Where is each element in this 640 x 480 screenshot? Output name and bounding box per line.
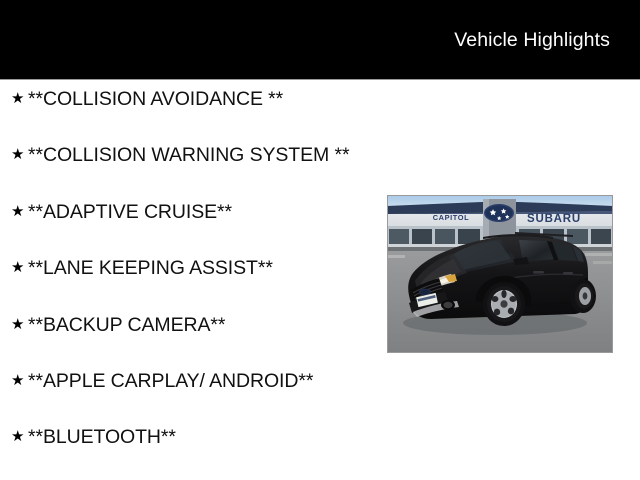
list-item-label: **COLLISION AVOIDANCE ** bbox=[28, 85, 283, 113]
vehicle-photo-image: CAPITOL SUBARU bbox=[387, 195, 613, 353]
list-item-label: **LANE KEEPING ASSIST** bbox=[28, 254, 273, 282]
star-bullet-icon: ★ bbox=[11, 367, 28, 395]
list-item-label: **ADAPTIVE CRUISE** bbox=[28, 198, 232, 226]
list-item-label: **APPLE CARPLAY/ ANDROID** bbox=[28, 367, 313, 395]
vehicle-photo: CAPITOL SUBARU bbox=[387, 195, 613, 353]
page-header: Vehicle Highlights bbox=[0, 0, 640, 79]
list-item: ★ **LANE KEEPING ASSIST** bbox=[0, 254, 380, 310]
parking-stripe bbox=[585, 253, 613, 256]
list-item: ★ **COLLISION AVOIDANCE ** bbox=[0, 85, 380, 141]
list-item: ★ **ADAPTIVE CRUISE** bbox=[0, 198, 380, 254]
list-item: ★ **BACKUP CAMERA** bbox=[0, 311, 380, 367]
header-divider bbox=[0, 79, 640, 80]
vehicle-highlights-list: ★ **COLLISION AVOIDANCE ** ★ **COLLISION… bbox=[0, 85, 380, 480]
dealership-name-left: CAPITOL bbox=[433, 213, 470, 222]
star-bullet-icon: ★ bbox=[11, 141, 28, 169]
vehicle-front-wheel bbox=[483, 282, 525, 326]
parking-stripe bbox=[387, 255, 405, 258]
list-item: ★ **APPLE CARPLAY/ ANDROID** bbox=[0, 367, 380, 423]
list-item-label: **BLUETOOTH** bbox=[28, 423, 176, 451]
list-item-label: **COLLISION WARNING SYSTEM ** bbox=[28, 141, 349, 169]
subaru-star-logo bbox=[484, 204, 514, 222]
star-bullet-icon: ★ bbox=[11, 311, 28, 339]
page-title: Vehicle Highlights bbox=[454, 29, 610, 51]
list-item: ★ **BLUETOOTH** bbox=[0, 423, 380, 479]
vehicle-rear-wheel bbox=[570, 279, 596, 313]
list-item-label: **BACKUP CAMERA** bbox=[28, 311, 225, 339]
star-bullet-icon: ★ bbox=[11, 85, 28, 113]
list-item: ★ **COLLISION WARNING SYSTEM ** bbox=[0, 141, 380, 197]
star-bullet-icon: ★ bbox=[11, 423, 28, 451]
star-bullet-icon: ★ bbox=[11, 198, 28, 226]
parking-stripe bbox=[593, 261, 613, 264]
star-bullet-icon: ★ bbox=[11, 254, 28, 282]
vehicle-highlights-page: Vehicle Highlights ★ **COLLISION AVOIDAN… bbox=[0, 0, 640, 480]
dealership-name-right: SUBARU bbox=[527, 213, 581, 225]
